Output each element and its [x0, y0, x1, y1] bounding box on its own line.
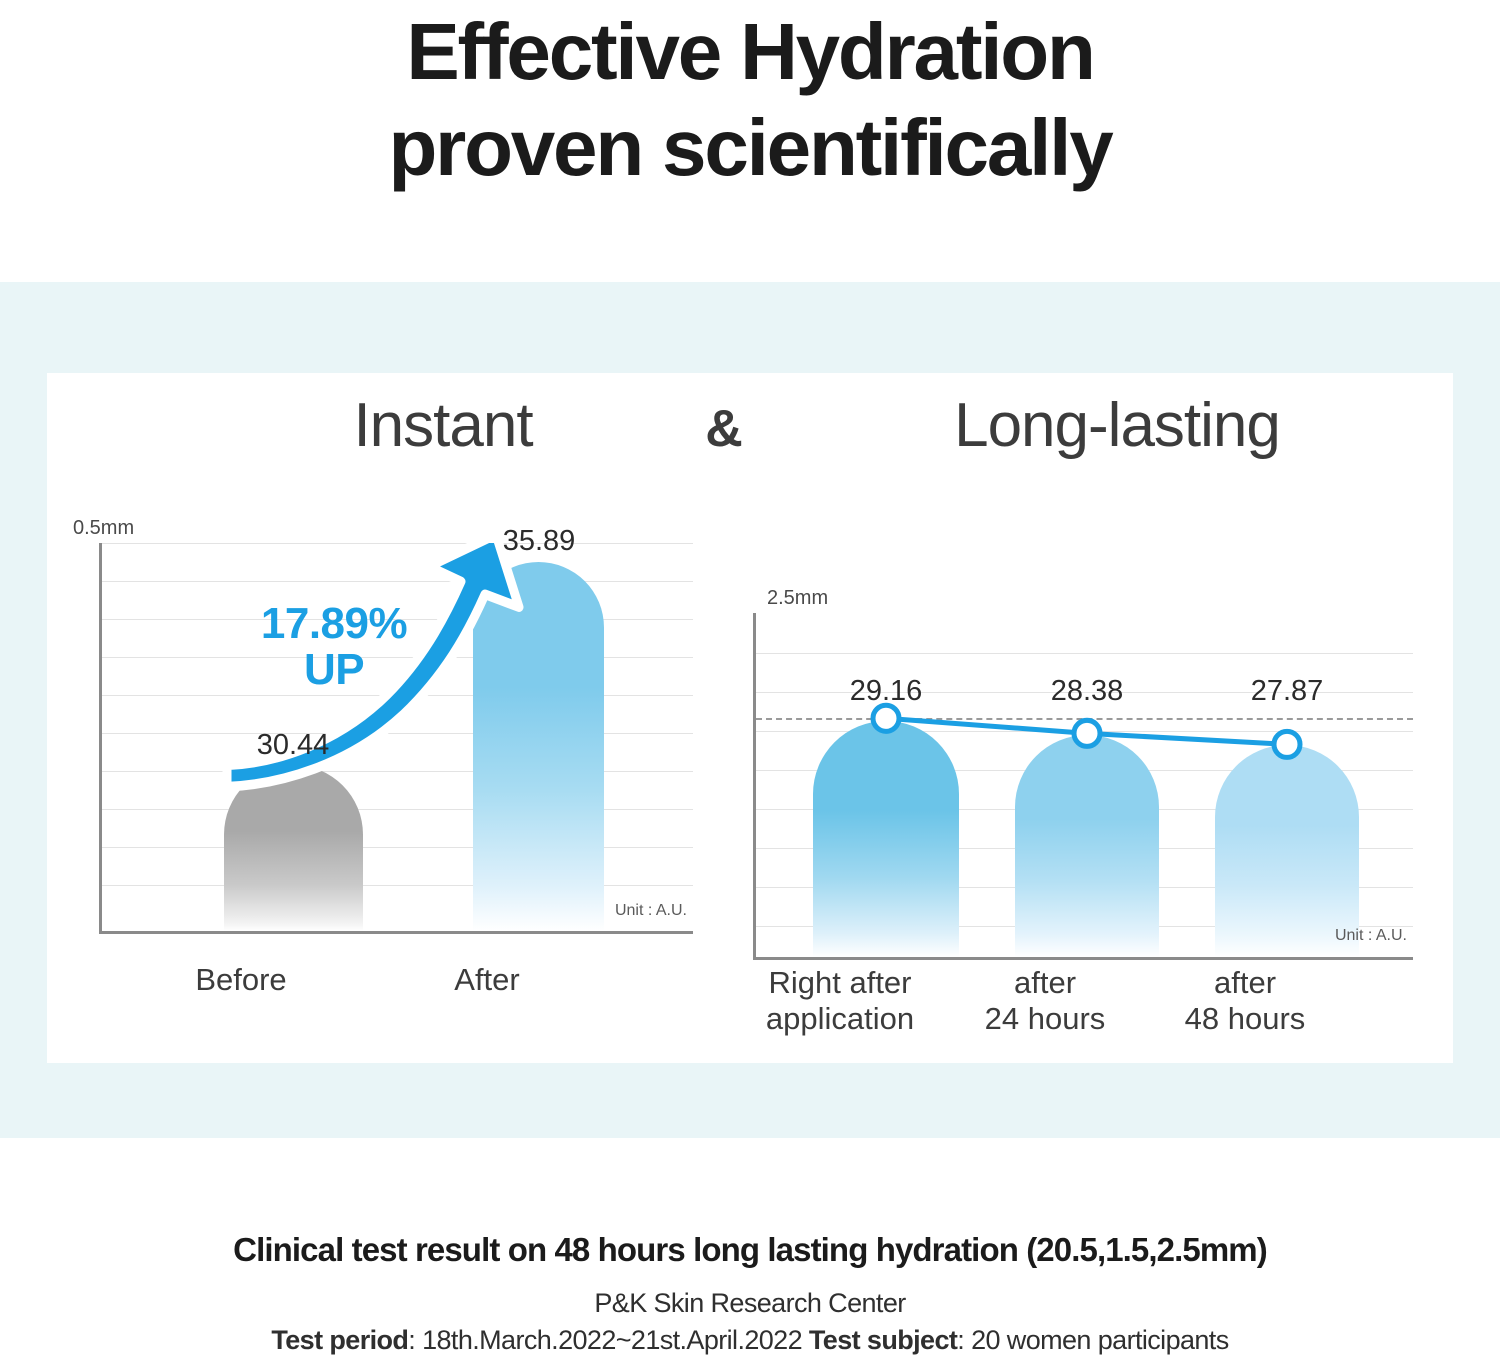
percent-value: 17.89% — [229, 601, 439, 647]
category-label-after: After — [397, 962, 577, 998]
footer-subject-label: Test subject — [809, 1325, 957, 1355]
value-label-before: 30.44 — [217, 729, 369, 762]
footer-research-center: P&K Skin Research Center — [0, 1284, 1500, 1322]
gridline — [102, 771, 693, 772]
right-x-axis — [753, 957, 1413, 960]
page-title: Effective Hydration proven scientificall… — [0, 4, 1500, 196]
gridline — [102, 885, 693, 886]
gridline — [756, 653, 1413, 654]
bar-after-48-hours — [1215, 745, 1359, 957]
gridline — [102, 733, 693, 734]
percent-increase-callout: 17.89% UP — [229, 601, 439, 693]
footer-period-label: Test period — [271, 1325, 408, 1355]
right-unit-note: Unit : A.U. — [1335, 927, 1407, 945]
left-x-axis — [99, 931, 693, 934]
footer-notes: Clinical test result on 48 hours long la… — [0, 1228, 1500, 1358]
footer-subject-value: : 20 women participants — [957, 1325, 1228, 1355]
value-label-after: 35.89 — [463, 525, 615, 558]
gridline — [102, 581, 693, 582]
gridline — [102, 809, 693, 810]
bar-after-24-hours — [1015, 735, 1159, 957]
category-label-after-48-hours: after 48 hours — [1135, 965, 1355, 1037]
percent-up-text: UP — [229, 647, 439, 693]
left-axis-unit-label: 0.5mm — [73, 517, 134, 540]
footer-main-line: Clinical test result on 48 hours long la… — [0, 1228, 1500, 1272]
title-line-2: proven scientifically — [0, 100, 1500, 196]
value-label-after-24-hours: 28.38 — [1011, 675, 1163, 708]
category-label-right-after-application: Right after application — [730, 965, 950, 1037]
heading-ampersand: & — [669, 395, 779, 463]
heading-instant: Instant — [233, 387, 653, 465]
left-chart-plot: 17.89% UP 30.44 35.89 Unit : A.U. — [99, 543, 693, 961]
bar-before — [224, 765, 363, 931]
left-y-axis — [99, 543, 102, 934]
bar-right-after-application — [813, 721, 959, 957]
left-unit-note: Unit : A.U. — [615, 902, 687, 920]
charts-card: Instant & Long-lasting 0.5mm — [47, 373, 1453, 1063]
section-headings: Instant & Long-lasting — [47, 387, 1453, 477]
gridline — [102, 695, 693, 696]
chart-long-lasting: 2.5mm — [707, 470, 1453, 1063]
category-label-after-24-hours: after 24 hours — [935, 965, 1155, 1037]
category-label-before: Before — [151, 962, 331, 998]
bar-after — [473, 562, 604, 931]
right-axis-unit-label: 2.5mm — [767, 587, 828, 610]
chart-instant: 0.5mm — [47, 470, 687, 1063]
reference-dashed-line — [756, 718, 1413, 720]
footer-period-value: : 18th.March.2022~21st.April.2022 — [408, 1325, 802, 1355]
right-chart-plot: 29.16 28.38 27.87 Unit : A.U. — [753, 613, 1413, 961]
footer-detail-line: Test period: 18th.March.2022~21st.April.… — [0, 1322, 1500, 1358]
right-y-axis — [753, 613, 756, 960]
value-label-after-48-hours: 27.87 — [1211, 675, 1363, 708]
value-label-right-after-application: 29.16 — [810, 675, 962, 708]
gridline — [102, 847, 693, 848]
heading-long-lasting: Long-lasting — [837, 387, 1397, 465]
title-line-1: Effective Hydration — [0, 4, 1500, 100]
infographic-page: Effective Hydration proven scientificall… — [0, 0, 1500, 1365]
